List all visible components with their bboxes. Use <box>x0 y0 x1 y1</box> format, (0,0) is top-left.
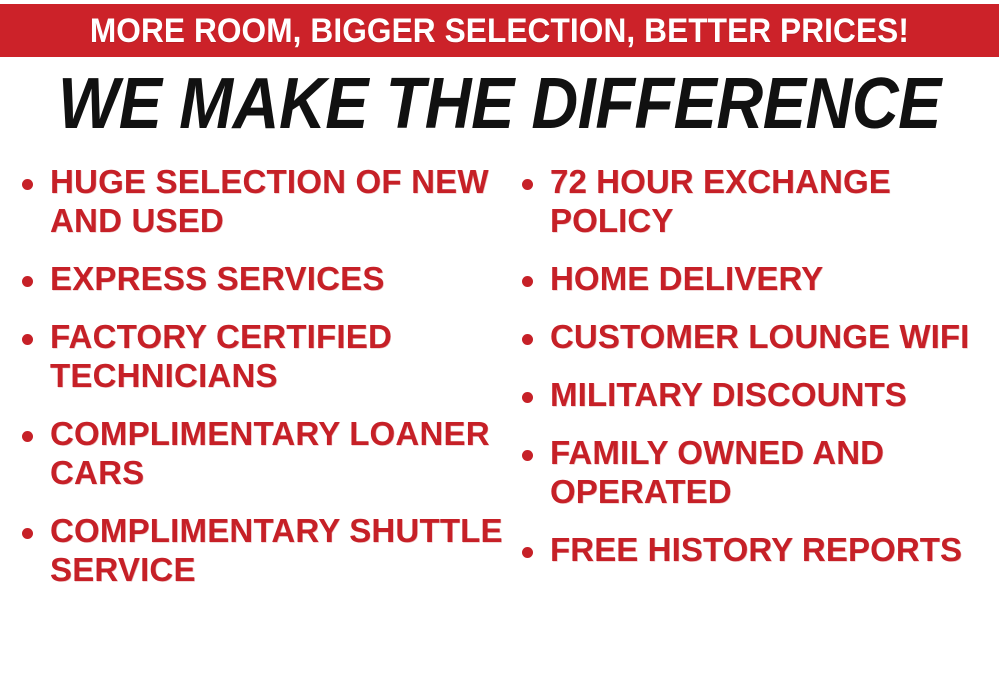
bullet-dot-icon <box>522 392 533 403</box>
benefit-label: MILITARY DISCOUNTS <box>550 375 999 414</box>
benefit-label: CUSTOMER LOUNGE WIFI <box>550 317 999 356</box>
bullet-dot-icon <box>522 179 533 190</box>
benefit-label: FAMILY OWNED AND OPERATED <box>550 433 999 511</box>
benefit-label: FREE HISTORY REPORTS <box>550 530 999 569</box>
promo-banner-text: MORE ROOM, BIGGER SELECTION, BETTER PRIC… <box>90 14 909 48</box>
bullet-dot-icon <box>22 179 33 190</box>
top-promo-banner: MORE ROOM, BIGGER SELECTION, BETTER PRIC… <box>0 4 999 57</box>
bullet-dot-icon <box>22 334 33 345</box>
benefit-item: COMPLIMENTARY SHUTTLE SERVICE <box>14 511 504 589</box>
bullet-dot-icon <box>22 431 33 442</box>
benefit-item: FREE HISTORY REPORTS <box>514 530 999 569</box>
benefit-item: MILITARY DISCOUNTS <box>514 375 999 414</box>
benefit-label: HOME DELIVERY <box>550 259 999 298</box>
benefits-section: HUGE SELECTION OF NEW AND USED EXPRESS S… <box>0 162 999 682</box>
benefit-label: EXPRESS SERVICES <box>50 259 504 298</box>
headline: WE MAKE THE DIFFERENCE <box>50 68 949 140</box>
benefit-label: COMPLIMENTARY LOANER CARS <box>50 414 504 492</box>
advertisement-banner: MORE ROOM, BIGGER SELECTION, BETTER PRIC… <box>0 0 999 692</box>
bullet-dot-icon <box>522 334 533 345</box>
bullet-dot-icon <box>522 450 533 461</box>
benefit-item: FACTORY CERTIFIED TECHNICIANS <box>14 317 504 395</box>
bullet-dot-icon <box>22 276 33 287</box>
benefit-label: COMPLIMENTARY SHUTTLE SERVICE <box>50 511 504 589</box>
bullet-dot-icon <box>522 547 533 558</box>
benefit-item: FAMILY OWNED AND OPERATED <box>514 433 999 511</box>
benefit-item: HOME DELIVERY <box>514 259 999 298</box>
benefit-item: CUSTOMER LOUNGE WIFI <box>514 317 999 356</box>
benefit-item: COMPLIMENTARY LOANER CARS <box>14 414 504 492</box>
bullet-dot-icon <box>522 276 533 287</box>
benefit-item: EXPRESS SERVICES <box>14 259 504 298</box>
benefits-column-right: 72 HOUR EXCHANGE POLICY HOME DELIVERY CU… <box>514 162 999 588</box>
benefit-item: HUGE SELECTION OF NEW AND USED <box>14 162 504 240</box>
benefit-label: 72 HOUR EXCHANGE POLICY <box>550 162 999 240</box>
benefit-label: FACTORY CERTIFIED TECHNICIANS <box>50 317 504 395</box>
benefits-column-left: HUGE SELECTION OF NEW AND USED EXPRESS S… <box>14 162 504 608</box>
benefit-item: 72 HOUR EXCHANGE POLICY <box>514 162 999 240</box>
bullet-dot-icon <box>22 528 33 539</box>
benefit-label: HUGE SELECTION OF NEW AND USED <box>50 162 504 240</box>
